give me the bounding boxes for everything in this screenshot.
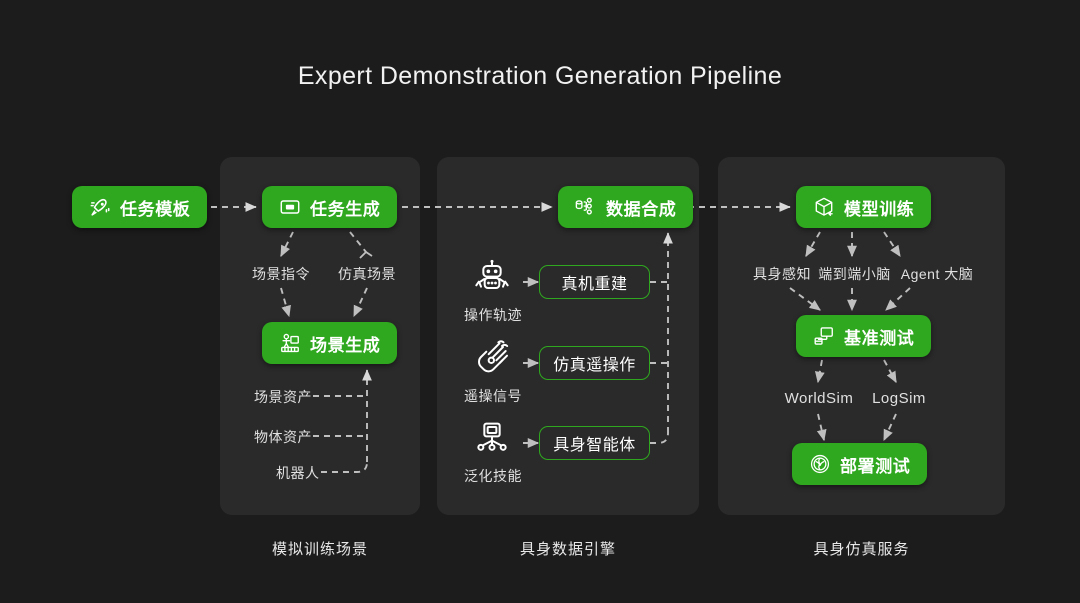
diagram-canvas: Expert Demonstration Generation Pipeline…	[0, 0, 1080, 603]
node-label: 部署测试	[840, 452, 910, 477]
node-label: 真机重建	[561, 270, 627, 294]
label-worldsim: WorldSim	[778, 390, 860, 407]
pl-badge-icon	[279, 196, 301, 218]
node-label: 具身智能体	[553, 431, 636, 455]
data-merge-icon	[575, 196, 597, 218]
panel-caption-3: 具身仿真服务	[718, 538, 1005, 559]
node-label: 任务生成	[310, 195, 380, 220]
label-generalization-skill: 泛化技能	[462, 466, 524, 486]
node-model-training[interactable]: 模型训练	[796, 186, 931, 228]
label-logsim: LogSim	[862, 390, 936, 407]
label-end-to-end-cerebellum: 端到端小脑	[808, 264, 901, 284]
rocket-icon	[89, 196, 111, 218]
node-benchmark-test[interactable]: 基准测试	[796, 315, 931, 357]
node-label: 模型训练	[844, 195, 914, 220]
label-scene-assets: 场景资产	[254, 387, 312, 407]
label-robot: 机器人	[276, 463, 320, 483]
node-embodied-agent[interactable]: 具身智能体	[539, 426, 650, 460]
label-operation-trajectory: 操作轨迹	[462, 305, 524, 325]
monitor-icon	[813, 325, 835, 347]
node-task-generation[interactable]: 任务生成	[262, 186, 397, 228]
label-agent-brain: Agent 大脑	[890, 264, 984, 284]
node-label: 数据合成	[606, 195, 676, 220]
node-data-synthesis[interactable]: 数据合成	[558, 186, 693, 228]
node-task-template[interactable]: 任务模板	[72, 186, 207, 228]
node-scene-generation[interactable]: 场景生成	[262, 322, 397, 364]
label-sim-scene: 仿真场景	[322, 264, 412, 284]
label-teleop-signal: 遥操信号	[462, 386, 524, 406]
page-title: Expert Demonstration Generation Pipeline	[0, 62, 1080, 91]
node-label: 基准测试	[844, 324, 914, 349]
node-label: 场景生成	[310, 331, 380, 356]
panel-caption-1: 模拟训练场景	[220, 538, 420, 559]
glove-icon	[472, 338, 512, 378]
scene-person-icon	[279, 332, 301, 354]
robot-icon	[472, 258, 512, 298]
label-object-assets: 物体资产	[254, 427, 312, 447]
panel-caption-2: 具身数据引擎	[437, 538, 699, 559]
node-real-machine-reconstruction[interactable]: 真机重建	[539, 265, 650, 299]
skill-chip-icon	[472, 418, 512, 458]
node-label: 仿真遥操作	[553, 351, 636, 375]
node-label: 任务模板	[120, 195, 190, 220]
node-deployment-test[interactable]: 部署测试	[792, 443, 927, 485]
globe-icon	[809, 453, 831, 475]
node-simulated-teleoperation[interactable]: 仿真遥操作	[539, 346, 650, 380]
label-scene-instruction: 场景指令	[236, 264, 326, 284]
cube-icon	[813, 196, 835, 218]
